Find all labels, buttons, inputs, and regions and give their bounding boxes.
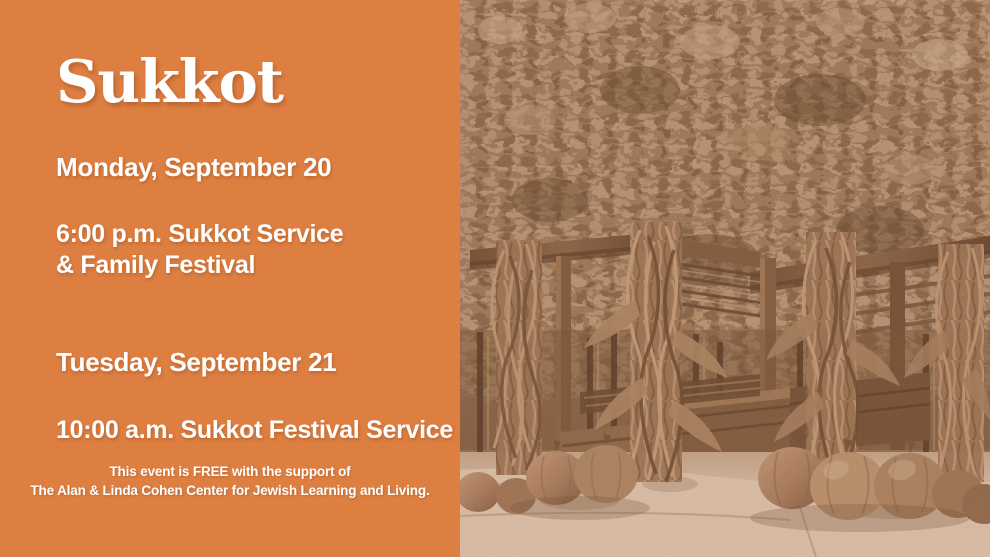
schedule-detail-monday-line-1: 6:00 p.m. Sukkot Service [56,219,460,251]
sukkah-photo-illustration [460,0,990,557]
schedule-detail-tuesday: 10:00 a.m. Sukkot Festival Service [56,415,460,447]
title-block: Sukkot [56,52,283,112]
schedule-date-monday: Monday, September 20 [56,152,460,183]
page-title: Sukkot [56,52,283,112]
support-note: This event is FREE with the support of T… [0,462,460,500]
schedule-list: Monday, September 20 6:00 p.m. Sukkot Se… [56,152,460,447]
schedule-detail-monday: 6:00 p.m. Sukkot Service & Family Festiv… [56,219,460,282]
schedule-entry-tuesday: Tuesday, September 21 10:00 a.m. Sukkot … [56,347,460,447]
schedule-entry-monday: Monday, September 20 6:00 p.m. Sukkot Se… [56,152,460,282]
info-panel: Sukkot Monday, September 20 6:00 p.m. Su… [0,0,460,557]
schedule-detail-tuesday-line-1: 10:00 a.m. Sukkot Festival Service [56,415,460,447]
schedule-detail-monday-line-2: & Family Festival [56,250,460,282]
sukkah-photo [460,0,990,557]
support-note-line-1: This event is FREE with the support of [14,462,446,481]
support-note-line-2: The Alan & Linda Cohen Center for Jewish… [14,481,446,500]
sukkot-event-poster: Sukkot Monday, September 20 6:00 p.m. Su… [0,0,990,557]
schedule-date-tuesday: Tuesday, September 21 [56,347,460,378]
